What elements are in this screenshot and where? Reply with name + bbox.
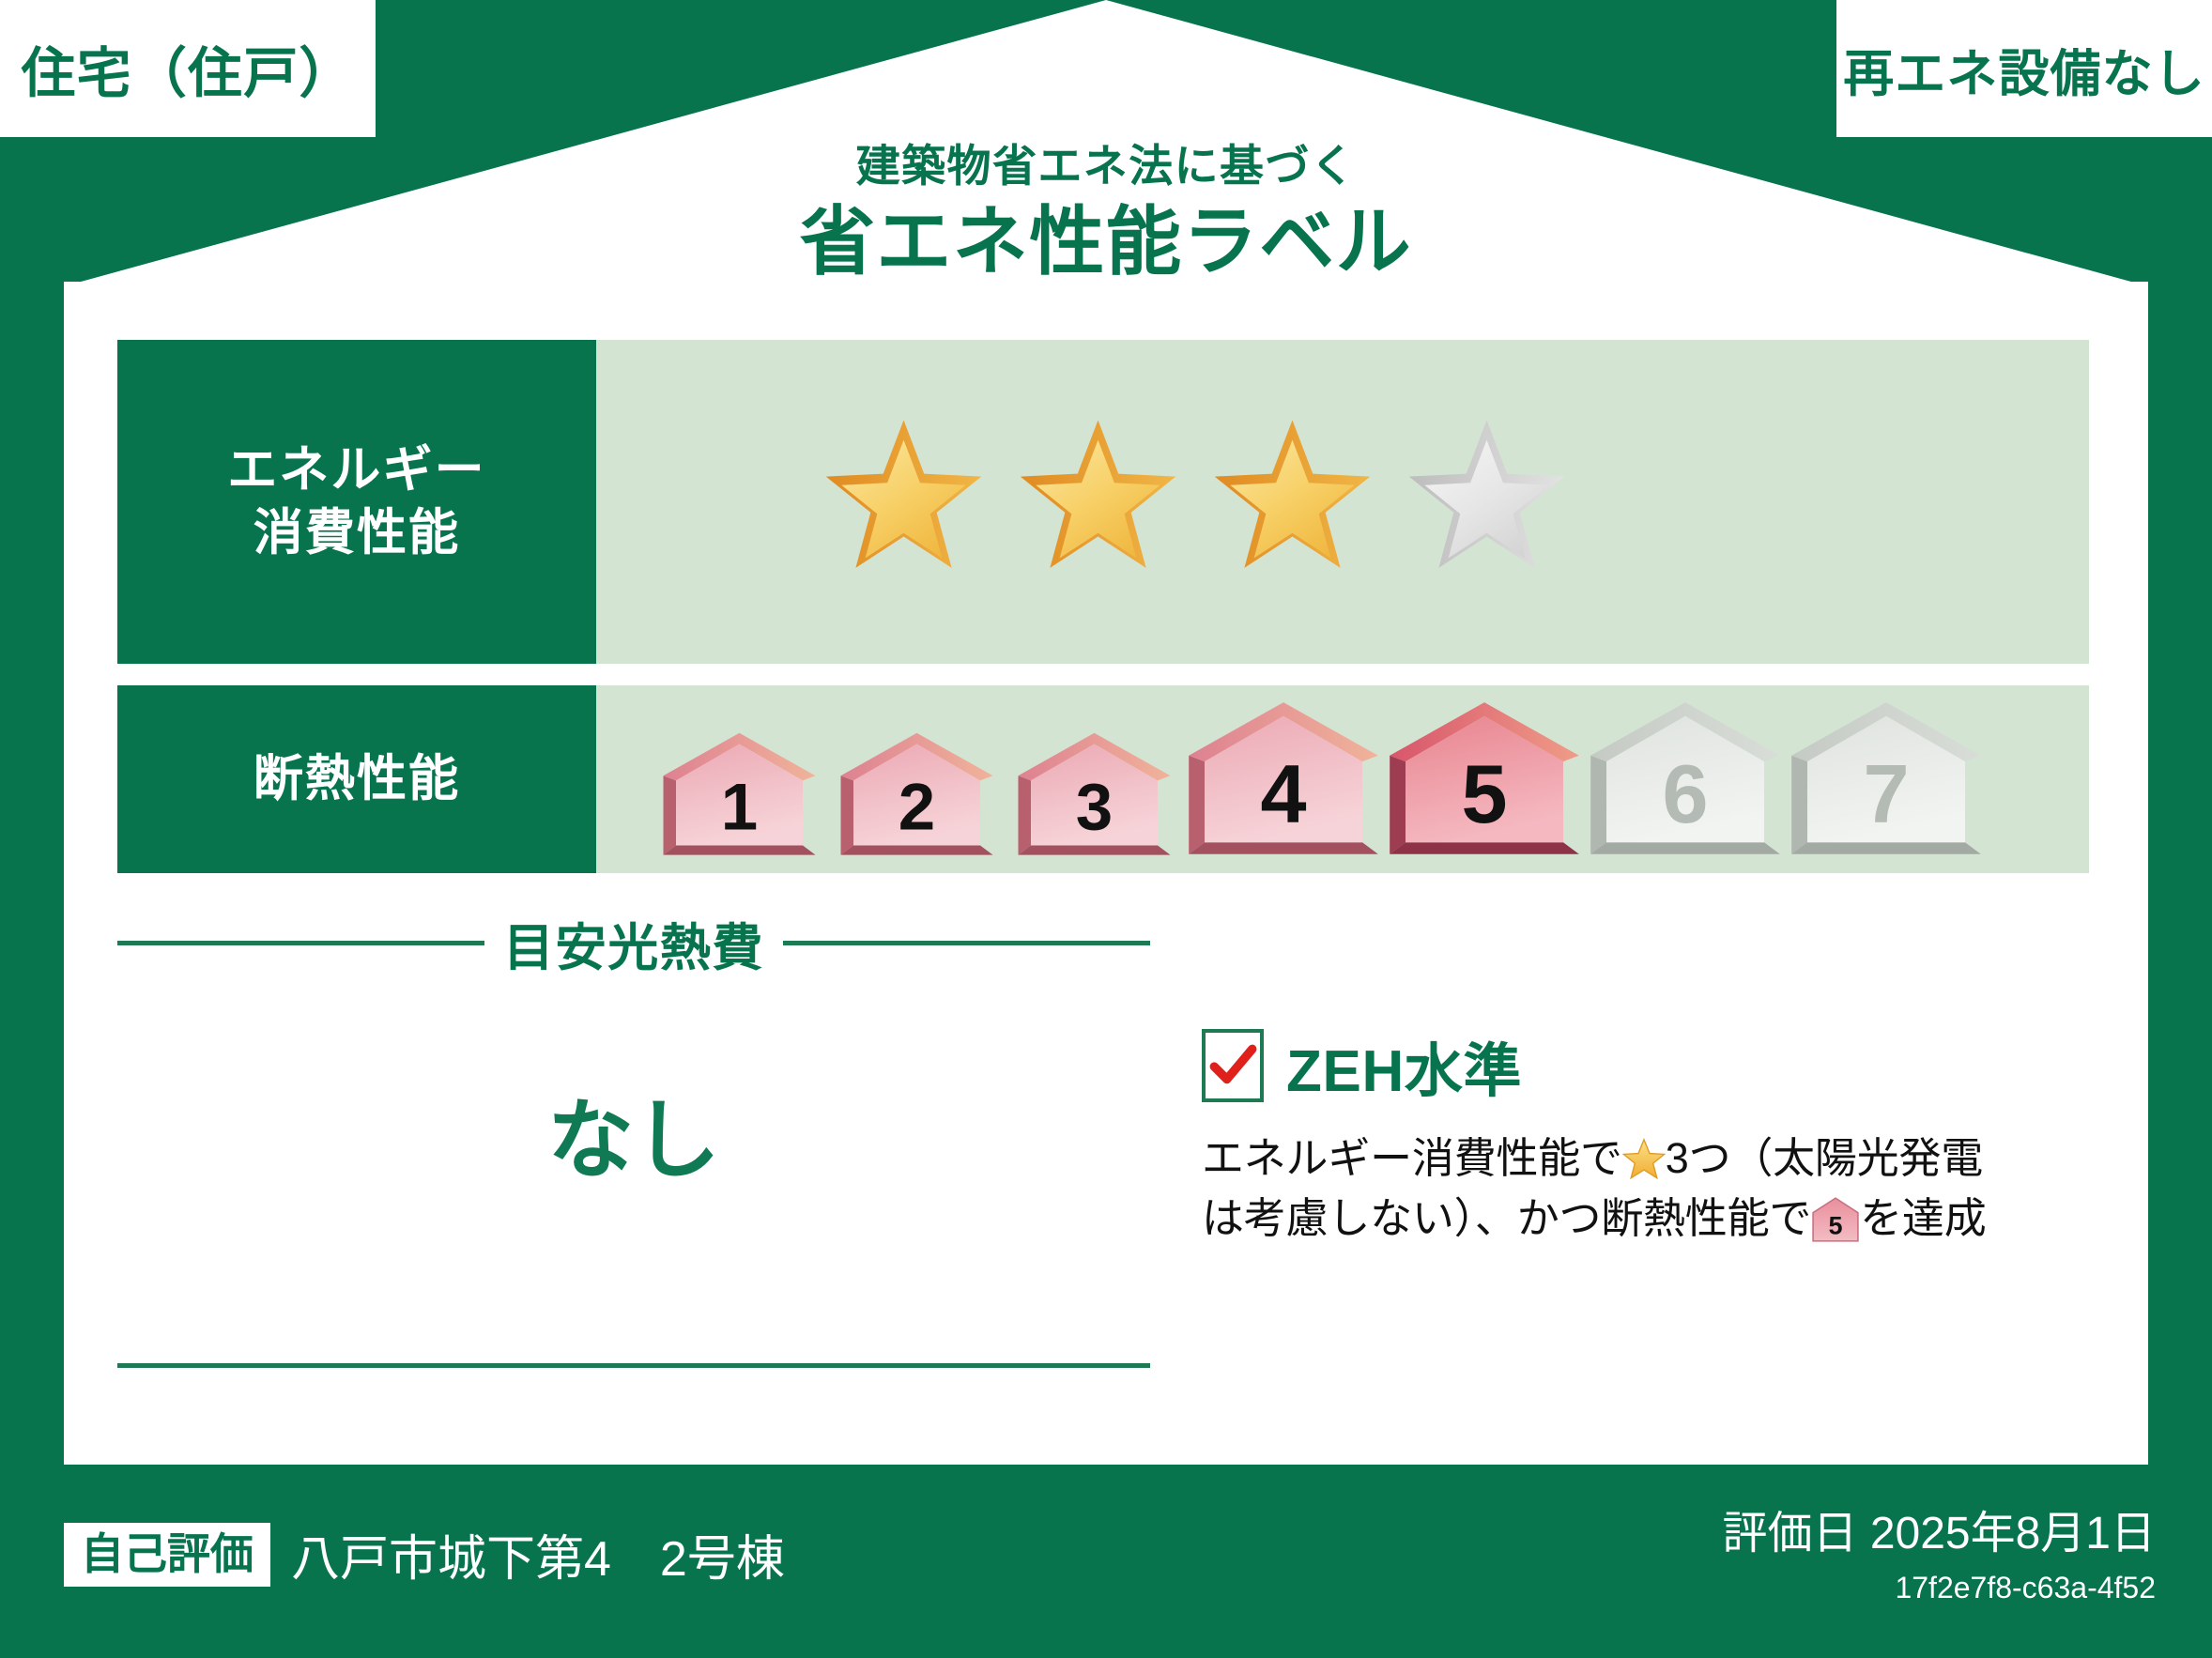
star-empty-icon	[1400, 415, 1574, 589]
footer-right-group: 評価日 2025年8月1日 17f2e7f8-c63a-4f52	[1722, 1508, 2156, 1607]
building-name: 八戸市城下第4 2号棟	[291, 1519, 785, 1589]
energy-performance-label: エネルギー 消費性能	[117, 340, 596, 664]
zeh-desc-line1a: エネルギー消費性能で	[1202, 1134, 1622, 1182]
cost-section-title: 目安光熱費	[503, 906, 764, 980]
check-icon	[1207, 1040, 1258, 1091]
star-rating	[817, 415, 1574, 589]
cost-rule-left	[117, 941, 484, 945]
star-filled-icon	[1011, 415, 1185, 589]
estimated-utility-cost-value: なし	[117, 1070, 1150, 1195]
evaluation-id: 17f2e7f8-c63a-4f52	[1722, 1569, 2156, 1608]
insulation-performance-body: 1234567	[596, 685, 2089, 873]
building-type-badge: 住宅（住戸）	[0, 0, 376, 137]
label-title-block: 建築物省エネ法に基づく 省エネ性能ラベル	[0, 141, 2212, 287]
insulation-level-2: 2	[830, 731, 1004, 858]
insulation-label-text: 断熱性能	[253, 748, 460, 810]
inline-star-icon	[1622, 1138, 1666, 1181]
energy-performance-label: 住宅（住戸） 再エネ設備なし 建築物省エネ法に基づく 省エネ性能ラベル エネルギ…	[0, 0, 2212, 1658]
insulation-level-5: 5	[1386, 700, 1583, 858]
zeh-standard-block: ZEH水準 エネルギー消費性能で3つ（太陽光発電 は考慮しない）、かつ断熱性能で…	[1202, 1023, 2131, 1249]
estimated-utility-cost-header: 目安光熱費	[117, 906, 1150, 980]
title-subtitle: 建築物省エネ法に基づく	[0, 141, 2212, 192]
insulation-level-1: 1	[653, 731, 826, 858]
zeh-title: ZEH水準	[1286, 1023, 1522, 1108]
zeh-desc-line2b: を達成	[1860, 1194, 1986, 1242]
cost-rule-right	[783, 941, 1150, 945]
renewable-equipment-badge: 再エネ設備なし	[1836, 0, 2212, 137]
footer-left-group: 自己評価 八戸市城下第4 2号棟	[64, 1519, 785, 1589]
cost-rule-bottom	[117, 1363, 1150, 1368]
insulation-level-3: 3	[1007, 731, 1181, 858]
star-filled-icon	[1206, 415, 1379, 589]
insulation-level-4: 4	[1185, 700, 1382, 858]
evaluation-type-badge: 自己評価	[64, 1523, 270, 1587]
svg-text:2: 2	[899, 771, 935, 845]
insulation-level-7: 7	[1788, 700, 1985, 858]
zeh-desc-line1b: 3つ（太陽光発電	[1666, 1134, 1983, 1182]
svg-text:7: 7	[1863, 747, 1909, 840]
zeh-checkbox[interactable]	[1202, 1029, 1264, 1102]
zeh-description: エネルギー消費性能で3つ（太陽光発電 は考慮しない）、かつ断熱性能で5を達成	[1202, 1128, 2131, 1249]
star-filled-icon	[817, 415, 991, 589]
inline-house-icon: 5	[1811, 1197, 1860, 1242]
energy-performance-body	[596, 340, 2089, 664]
svg-text:5: 5	[1829, 1211, 1843, 1239]
svg-text:1: 1	[721, 771, 758, 845]
energy-label-line1: エネルギー	[227, 439, 486, 501]
svg-text:5: 5	[1461, 747, 1507, 840]
insulation-performance-row: 断熱性能 1234567	[117, 685, 2089, 873]
zeh-heading-row: ZEH水準	[1202, 1023, 2131, 1108]
label-footer: 自己評価 八戸市城下第4 2号棟 評価日 2025年8月1日 17f2e7f8-…	[0, 1465, 2212, 1658]
evaluation-date: 評価日 2025年8月1日	[1722, 1508, 2156, 1561]
insulation-level-scale: 1234567	[653, 700, 1985, 858]
insulation-performance-label: 断熱性能	[117, 685, 596, 873]
energy-performance-row: エネルギー 消費性能	[117, 340, 2089, 664]
insulation-level-6: 6	[1587, 700, 1784, 858]
svg-text:6: 6	[1662, 747, 1708, 840]
svg-text:4: 4	[1260, 747, 1306, 840]
svg-text:3: 3	[1076, 771, 1113, 845]
energy-label-line2: 消費性能	[253, 502, 460, 564]
zeh-desc-line2a: は考慮しない）、かつ断熱性能で	[1202, 1194, 1811, 1242]
page-title: 省エネ性能ラベル	[0, 197, 2212, 287]
